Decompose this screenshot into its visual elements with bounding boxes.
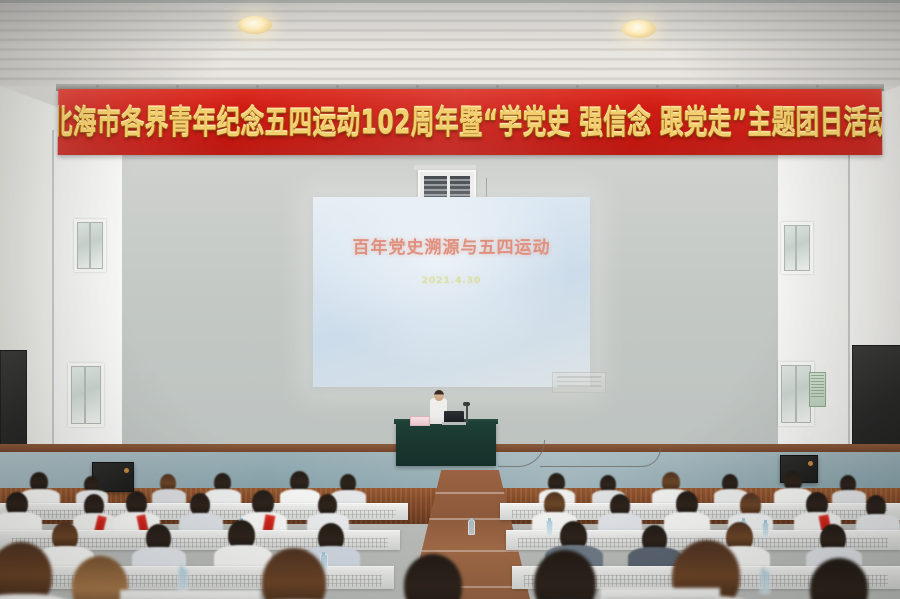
water-bottle <box>178 568 188 592</box>
laptop-base <box>442 422 466 425</box>
ceiling-shading <box>0 0 900 92</box>
microphone-icon <box>463 402 470 406</box>
presenter-table <box>396 422 496 466</box>
floor-cable <box>540 448 661 467</box>
banner-text: 北海市各界青年纪念五四运动102周年暨“学党史 强信念 跟党走”主题团日活动 <box>58 106 883 138</box>
audience-area <box>0 470 900 599</box>
right-wall-pillar <box>778 128 850 490</box>
desk-row <box>120 590 260 599</box>
window-left-lower <box>68 363 104 427</box>
wall-seam <box>52 130 54 490</box>
screen-glow <box>313 197 590 387</box>
projection-screen: 百年党史溯源与五四运动 2021.4.30 <box>313 197 590 387</box>
wall-seam <box>848 128 850 490</box>
window-left-upper <box>74 219 106 272</box>
microphone-stand <box>466 405 468 423</box>
wall-panel-right <box>852 345 900 457</box>
nameplate <box>410 416 430 426</box>
slide-title: 百年党史溯源与五四运动 <box>313 233 590 258</box>
event-banner: 北海市各界青年纪念五四运动102周年暨“学党史 强信念 跟党走”主题团日活动 <box>58 89 883 155</box>
desk-row <box>0 566 394 589</box>
wall-notice-sign <box>809 372 826 407</box>
downlight-icon <box>622 20 656 38</box>
water-bottle <box>546 520 553 535</box>
left-wall-pillar <box>52 130 122 490</box>
desk-row <box>600 588 720 599</box>
presenter-head <box>434 390 444 401</box>
water-bottle <box>760 570 770 594</box>
downlight-icon <box>238 16 272 34</box>
water-bottle <box>762 522 769 537</box>
slide-date: 2021.4.30 <box>313 276 590 286</box>
conference-hall-photo: 北海市各界青年纪念五四运动102周年暨“学党史 强信念 跟党走”主题团日活动 百… <box>0 0 900 599</box>
window-right-upper <box>781 222 813 274</box>
water-bottle <box>468 520 475 535</box>
wall-placard <box>552 372 606 393</box>
